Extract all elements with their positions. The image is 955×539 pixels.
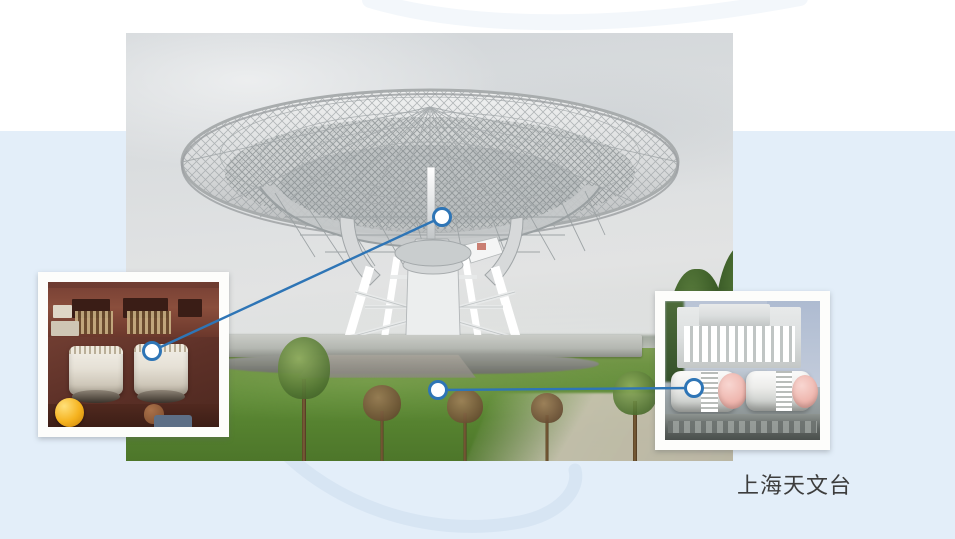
- left-inset-photo[interactable]: [38, 272, 229, 437]
- bearing-housing: [69, 346, 124, 395]
- photo-tree: [276, 337, 332, 461]
- orange-sphere: [55, 398, 84, 427]
- right-inset-image: [665, 301, 820, 440]
- caption-label: 上海天文台: [737, 468, 852, 500]
- photo-tree: [530, 393, 564, 461]
- worker-shirt: [154, 415, 192, 427]
- left-inset-image: [48, 282, 219, 427]
- photo-tree: [612, 371, 658, 461]
- photo-tree: [362, 385, 402, 461]
- right-inset-photo[interactable]: [655, 291, 830, 450]
- presentation-slide: 上海天文台: [0, 0, 955, 539]
- photo-tree: [446, 389, 484, 461]
- bearing-housing: [134, 344, 189, 395]
